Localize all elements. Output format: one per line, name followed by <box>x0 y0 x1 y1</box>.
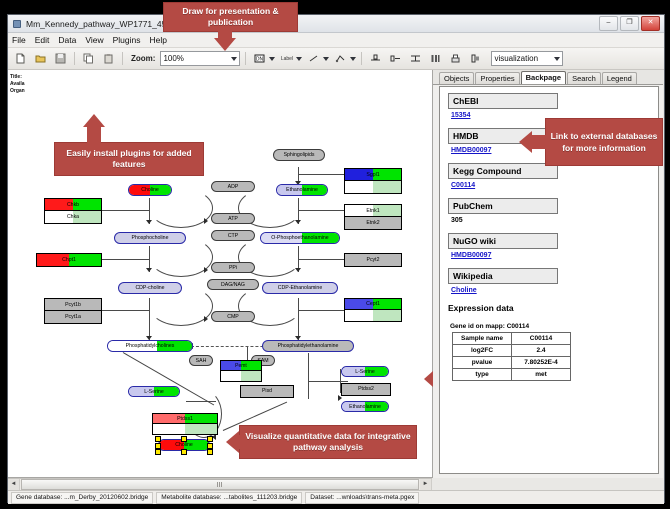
gene-label: Ptdss2 <box>342 384 390 395</box>
gene-label: Chka <box>45 211 101 223</box>
node-label: L-Serine <box>144 389 164 395</box>
menu-item-view[interactable]: View <box>85 35 103 45</box>
chevron-down-icon[interactable] <box>554 57 560 61</box>
layout-icon[interactable] <box>447 50 464 67</box>
callout-visualize-text: Visualize quantitative data for integrat… <box>244 431 412 453</box>
node-label: Ethanolamine <box>349 404 381 410</box>
chevron-down-icon[interactable] <box>231 57 237 61</box>
node-ethanolamine-bottom[interactable]: Ethanolamine <box>341 401 389 412</box>
zoom-label: Zoom: <box>131 54 155 63</box>
menu-item-data[interactable]: Data <box>58 35 76 45</box>
callout-plugins-text: Easily install plugins for added feature… <box>59 148 199 170</box>
meta-organism: Organ <box>10 88 25 95</box>
exp-key: Sample name <box>453 333 512 345</box>
node-ctp[interactable]: CTP <box>211 230 255 241</box>
gene-box-chka[interactable]: Chka <box>44 210 102 224</box>
menu-item-help[interactable]: Help <box>150 35 167 45</box>
node-label: Ethanolamine <box>286 187 318 193</box>
menu-bar: File Edit Data View Plugins Help <box>8 33 664 48</box>
label-icon[interactable]: Label <box>278 50 295 67</box>
gene-box-pcyt2[interactable]: Pcyt2 <box>344 253 402 267</box>
datanode-icon[interactable]: DN <box>251 50 268 67</box>
callout-plugins-stem <box>87 126 101 144</box>
exp-key: log2FC <box>453 345 512 357</box>
node-dagnag[interactable]: DAG/NAG <box>207 279 259 290</box>
gene-box-ptdss1-lower[interactable] <box>152 423 218 435</box>
node-l-serine-right[interactable]: L-Serine <box>341 366 389 377</box>
paste-icon[interactable] <box>100 50 117 67</box>
scroll-left-icon[interactable]: ◄ <box>8 479 20 490</box>
label-tool-caption: Label <box>281 56 293 62</box>
gene-label: Pcyt2 <box>345 254 401 266</box>
menu-item-plugins[interactable]: Plugins <box>113 35 141 45</box>
node-choline-top[interactable]: Choline <box>128 184 172 196</box>
table-row: type met <box>453 369 571 381</box>
pathway-drawing[interactable]: Title: Availa Organ <box>8 70 432 477</box>
node-cdp-ethanolamine[interactable]: CDP-Ethanolamine <box>262 282 338 294</box>
db-value-pubchem: 305 <box>451 217 658 224</box>
node-l-serine-left[interactable]: L-Serine <box>128 386 180 397</box>
status-metabolite-database: Metabolite database: ...tabolites_111203… <box>156 492 302 504</box>
gene-box-sgpl1-lower[interactable] <box>344 180 402 194</box>
datanode-tool[interactable]: DN <box>251 50 275 67</box>
arrow-down-1 <box>146 220 152 224</box>
gene-box-pemt-lower[interactable] <box>220 370 262 382</box>
group-icon[interactable] <box>387 50 404 67</box>
db-header-kegg: Kegg Compound <box>448 163 558 179</box>
edge-chpt1-spine <box>100 259 150 260</box>
db-header-nugowiki: NuGO wiki <box>448 233 558 249</box>
expression-table: Sample name C00114 log2FC 2.4 pvalue 7.8… <box>452 332 571 381</box>
exp-value: 7.80252E-4 <box>512 357 571 369</box>
exp-value: met <box>512 369 571 381</box>
node-label: O-Phosphoethanolamine <box>271 235 328 241</box>
zoom-value: 100% <box>163 54 183 63</box>
status-gene-database: Gene database: ...m_Derby_20120602.bridg… <box>11 492 153 504</box>
gene-box-pcyt1a[interactable]: Pcyt1a <box>44 310 102 324</box>
node-label: CTP <box>228 233 238 239</box>
edge-sgpl1-spine <box>298 174 344 175</box>
callout-expression-arrow <box>424 371 433 387</box>
callout-draw-arrow <box>214 38 236 51</box>
selection-handle-ne[interactable] <box>207 436 213 442</box>
meta-available: Availa <box>10 81 25 88</box>
copy-icon[interactable] <box>80 50 97 67</box>
exp-key: pvalue <box>453 357 512 369</box>
save-disk-icon[interactable] <box>52 50 69 67</box>
gene-box-ptdss2[interactable]: Ptdss2 <box>341 383 391 396</box>
toolbar-divider-2 <box>122 52 123 65</box>
maximize-button[interactable]: ❐ <box>620 16 639 31</box>
title-bar: Mm_Kennedy_pathway_WP1771_45176.gpml – ❐… <box>8 15 664 33</box>
node-cmp[interactable]: CMP <box>211 311 255 322</box>
toolbar-divider-3 <box>245 52 246 65</box>
expression-gene-id: Gene id on mapp: C00114 <box>450 323 658 330</box>
expression-data-heading: Expression data <box>448 303 658 313</box>
window-controls: – ❐ ✕ <box>599 16 660 31</box>
chevron-down-icon[interactable] <box>350 57 356 61</box>
tab-legend[interactable]: Legend <box>602 72 637 84</box>
db-link-kegg[interactable]: C00114 <box>451 182 658 189</box>
selection-handle-nw[interactable] <box>155 436 161 442</box>
node-ethanolamine-top[interactable]: Ethanolamine <box>276 184 328 196</box>
tab-search[interactable]: Search <box>567 72 601 84</box>
app-icon <box>12 19 22 29</box>
line-tool[interactable] <box>305 50 329 67</box>
callout-plugins: Easily install plugins for added feature… <box>54 142 204 176</box>
line-icon[interactable] <box>305 50 322 67</box>
pathway-metadata: Title: Availa Organ <box>10 74 25 95</box>
node-sah[interactable]: SAH <box>189 355 213 366</box>
svg-text:DN: DN <box>256 56 264 62</box>
tab-objects[interactable]: Objects <box>439 72 474 84</box>
node-label: ATP <box>228 216 238 222</box>
node-label: Phosphatidylethanolamine <box>278 343 339 349</box>
pathvisio-window: Mm_Kennedy_pathway_WP1771_45176.gpml – ❐… <box>7 14 665 503</box>
node-label: Choline <box>141 187 159 193</box>
edge-pcyt2-spine <box>298 259 344 260</box>
zoom-combo[interactable]: 100% <box>160 51 240 66</box>
callout-visualize-stem <box>235 435 243 449</box>
node-label: Phosphatidylcholines <box>126 343 175 349</box>
menu-item-edit[interactable]: Edit <box>35 35 50 45</box>
edge-cept1-spine <box>298 310 344 311</box>
toolbar: Zoom: 100% DN Label <box>8 48 664 70</box>
open-folder-icon[interactable] <box>32 50 49 67</box>
table-row: log2FC 2.4 <box>453 345 571 357</box>
tab-backpage[interactable]: Backpage <box>521 71 566 84</box>
node-phosphatidylcholines[interactable]: Phosphatidylcholines <box>107 340 193 352</box>
toolbar-divider-4 <box>361 52 362 65</box>
db-header-chebi: ChEBI <box>448 93 558 109</box>
arrow-down-5 <box>295 220 301 224</box>
toolbar-divider <box>74 52 75 65</box>
node-label: SAH <box>196 358 207 364</box>
callout-links-text: Link to external databases for more info… <box>550 130 658 154</box>
chevron-down-icon[interactable] <box>323 57 329 61</box>
table-row: pvalue 7.80252E-4 <box>453 357 571 369</box>
callout-links-stem <box>531 135 547 149</box>
node-label: DAG/NAG <box>221 282 245 288</box>
new-file-icon[interactable] <box>12 50 29 67</box>
close-button[interactable]: ✕ <box>641 16 660 31</box>
edge-ptdethn-down <box>308 353 309 399</box>
db-link-nugowiki[interactable]: HMDB00097 <box>451 252 658 259</box>
selection-handle-s[interactable] <box>181 449 187 455</box>
side-panel-tabs: Objects Properties Backpage Search Legen… <box>433 70 663 85</box>
align-icon[interactable] <box>367 50 384 67</box>
shape-icon[interactable] <box>332 50 349 67</box>
node-phosphocholine[interactable]: Phosphocholine <box>114 232 186 244</box>
table-row: Sample name C00114 <box>453 333 571 345</box>
node-label: Phosphocholine <box>132 235 169 241</box>
edge-pemt-stub <box>247 347 248 360</box>
shape-tool[interactable] <box>332 50 356 67</box>
arrow-atp <box>204 218 208 224</box>
node-adp[interactable]: ADP <box>211 181 255 192</box>
arrow-ppi <box>204 267 208 273</box>
node-label: ADP <box>228 184 239 190</box>
selection-handle-sw[interactable] <box>155 449 161 455</box>
node-label: PPi <box>229 265 237 271</box>
callout-visualize: Visualize quantitative data for integrat… <box>239 425 417 459</box>
gene-box-cept1-lower[interactable] <box>344 309 402 322</box>
gene-label: Pisd <box>241 386 293 397</box>
visualization-combo[interactable]: visualization <box>491 51 563 66</box>
node-label: CDP-choline <box>135 285 164 291</box>
status-dataset: Dataset: ...wnloads\trans-meta.pgex <box>305 492 419 504</box>
gene-box-etnk2[interactable]: Etnk2 <box>344 216 402 230</box>
tab-properties[interactable]: Properties <box>475 72 519 84</box>
gene-box-pisd[interactable]: Pisd <box>240 385 294 398</box>
callout-draw-text: Draw for presentation & publication <box>168 6 293 28</box>
node-sphingolipids[interactable]: Sphingolipids <box>273 149 325 161</box>
pathway-canvas[interactable]: Title: Availa Organ <box>8 70 433 478</box>
edge-etnk-spine <box>298 210 344 211</box>
db-link-wikipedia[interactable]: Choline <box>451 287 658 294</box>
minimize-button[interactable]: – <box>599 16 618 31</box>
arrow-cmp <box>204 316 208 322</box>
node-label: CMP <box>227 314 239 320</box>
db-header-pubchem: PubChem <box>448 198 558 214</box>
edge-pcyt1-spine <box>100 310 150 311</box>
meta-title: Title: <box>10 74 25 81</box>
node-ppi[interactable]: PPi <box>211 262 255 273</box>
order-icon[interactable] <box>467 50 484 67</box>
scroll-right-icon[interactable]: ► <box>420 479 432 490</box>
menu-item-file[interactable]: File <box>12 35 26 45</box>
node-phosphatidylethanolamine[interactable]: Phosphatidylethanolamine <box>262 340 354 352</box>
stack-icon[interactable] <box>407 50 424 67</box>
node-label: Sphingolipids <box>284 152 315 158</box>
callout-links: Link to external databases for more info… <box>545 118 663 166</box>
node-atp[interactable]: ATP <box>211 213 255 224</box>
chevron-down-icon[interactable] <box>296 57 302 61</box>
status-bar: Gene database: ...m_Derby_20120602.bridg… <box>8 490 664 504</box>
spacing-icon[interactable] <box>427 50 444 67</box>
node-label: L-Serine <box>355 369 375 375</box>
selection-handle-se[interactable] <box>207 449 213 455</box>
visualization-value: visualization <box>494 54 538 63</box>
chevron-down-icon[interactable] <box>269 57 275 61</box>
callout-draw: Draw for presentation & publication <box>163 2 298 32</box>
gene-label: Pcyt1a <box>45 311 101 323</box>
edge-chk-spine <box>100 210 150 211</box>
arrow-down-2 <box>146 268 152 272</box>
node-label: CDP-Ethanolamine <box>278 285 322 291</box>
exp-value: C00114 <box>512 333 571 345</box>
exp-value: 2.4 <box>512 345 571 357</box>
edge-pisd-spine <box>308 381 348 382</box>
node-cdp-choline[interactable]: CDP-choline <box>118 282 182 294</box>
exp-key: type <box>453 369 512 381</box>
gene-box-chpt1-left[interactable]: Chpt1 <box>36 253 102 267</box>
db-header-wikipedia: Wikipedia <box>448 268 558 284</box>
node-label: Choline <box>175 442 193 448</box>
label-tool[interactable]: Label <box>278 50 302 67</box>
gene-label: Etnk2 <box>345 217 401 229</box>
horizontal-scrollbar[interactable]: ◄ ► <box>8 478 432 490</box>
scroll-thumb[interactable] <box>21 479 419 490</box>
node-o-phosphoethanolamine[interactable]: O-Phosphoethanolamine <box>260 232 340 244</box>
gene-label: Chpt1 <box>37 254 101 266</box>
